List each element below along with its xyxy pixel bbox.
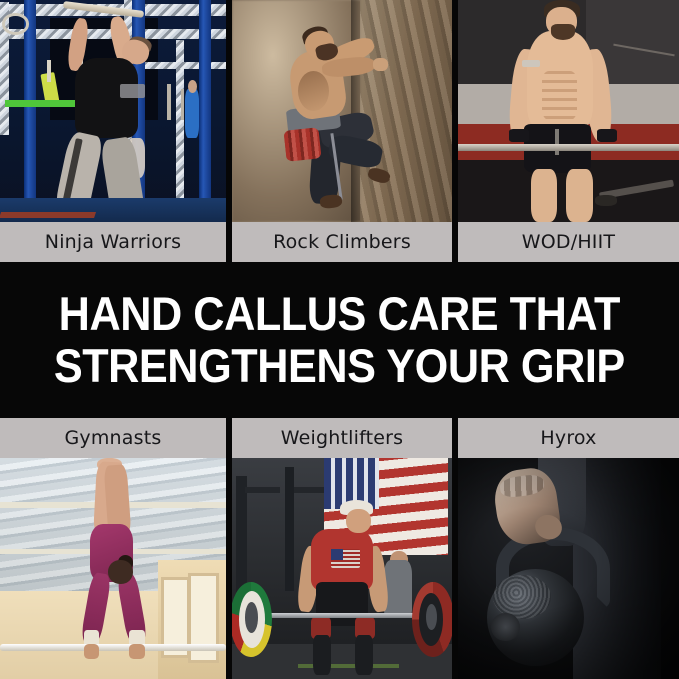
wod-hiit-photo	[458, 0, 679, 222]
headline-band: HAND CALLUS CARE THAT STRENGTHENS YOUR G…	[0, 262, 679, 418]
bottom-caption-row: Gymnasts Weightlifters Hyrox	[0, 418, 679, 458]
panel-gymnasts-image	[0, 458, 226, 679]
caption-gymnasts-label: Gymnasts	[64, 427, 161, 449]
hyrox-photo	[458, 458, 679, 679]
caption-ninja-warriors: Ninja Warriors	[0, 222, 226, 262]
caption-hyrox: Hyrox	[458, 418, 679, 458]
panel-rock-climbers-image	[232, 0, 452, 222]
headline-line-2: STRENGTHENS YOUR GRIP	[54, 340, 625, 392]
ninja-warriors-photo	[0, 0, 226, 222]
caption-hyrox-label: Hyrox	[540, 427, 596, 449]
panel-ninja-warriors-image	[0, 0, 226, 222]
caption-rock-climbers: Rock Climbers	[232, 222, 452, 262]
gymnasts-photo	[0, 458, 226, 679]
caption-weightlifters-label: Weightlifters	[281, 427, 404, 449]
caption-gymnasts: Gymnasts	[0, 418, 226, 458]
infographic-banner: Ninja Warriors Rock Climbers WOD/HIIT HA…	[0, 0, 679, 679]
rock-climbers-photo	[232, 0, 452, 222]
caption-ninja-warriors-label: Ninja Warriors	[45, 231, 181, 253]
caption-rock-climbers-label: Rock Climbers	[273, 231, 411, 253]
bottom-image-row	[0, 458, 679, 679]
weightlifters-photo	[232, 458, 452, 679]
top-caption-row: Ninja Warriors Rock Climbers WOD/HIIT	[0, 222, 679, 262]
headline-text: HAND CALLUS CARE THAT STRENGTHENS YOUR G…	[54, 288, 625, 392]
headline-line-1: HAND CALLUS CARE THAT	[54, 288, 625, 340]
panel-hyrox-image	[458, 458, 679, 679]
top-image-row	[0, 0, 679, 222]
panel-wod-hiit-image	[458, 0, 679, 222]
caption-wod-hiit: WOD/HIIT	[458, 222, 679, 262]
panel-weightlifters-image	[232, 458, 452, 679]
caption-weightlifters: Weightlifters	[232, 418, 452, 458]
caption-wod-hiit-label: WOD/HIIT	[522, 231, 615, 253]
